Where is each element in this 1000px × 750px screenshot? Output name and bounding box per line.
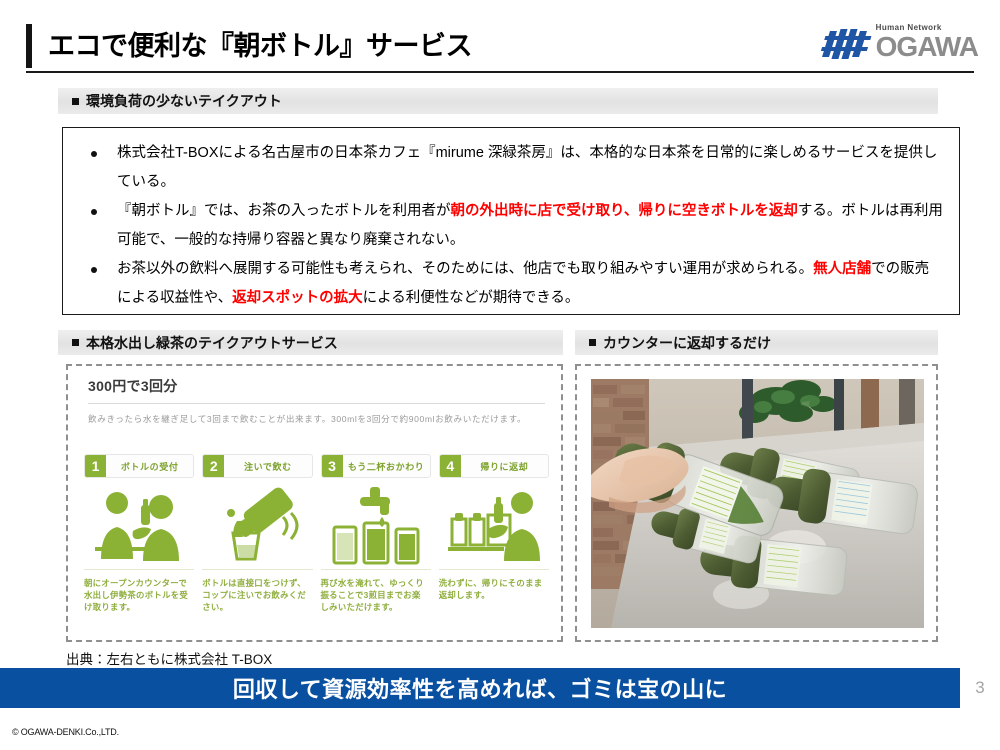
ogawa-logo: Human Network OGAWA — [826, 24, 978, 59]
step-label: ボトルの受付 — [106, 455, 193, 477]
bullet-square-icon — [72, 339, 79, 346]
step-number: 3 — [322, 455, 343, 477]
footer-banner-text: 回収して資源効率性を高めれば、ゴミは宝の山に — [233, 672, 727, 704]
section-header-main-label: 環境負荷の少ないテイクアウト — [86, 91, 282, 111]
step-list: 1ボトルの受付 朝にオープンカウンターで水出し伊勢茶のボトルを受け取ります。2注… — [84, 454, 549, 614]
step-item: 3もう二杯おかわり 再び水を淹れて、ゆっくり振ることで3煎目までお楽しみいただけ… — [321, 454, 431, 614]
step-item: 4帰りに返却 洗わずに、帰りにそのまま返却します。 — [439, 454, 549, 614]
bullet-text: による利便性などが期待できる。 — [363, 290, 580, 306]
bullet-square-icon — [72, 98, 79, 105]
step-label: 注いで飲む — [224, 455, 311, 477]
bullet-item: 『朝ボトル』では、お茶の入ったボトルを利用者が朝の外出時に店で受け取り、帰りに空… — [73, 197, 943, 255]
logo-wordmark: Human Network OGAWA — [876, 24, 978, 59]
bullet-square-icon — [589, 339, 596, 346]
bullet-item: お茶以外の飲料へ展開する可能性も考えられ、そのためには、他店でも取り組みやすい運… — [73, 255, 943, 313]
title-text: エコで便利な『朝ボトル』サービス — [48, 33, 472, 60]
step-chip: 3もう二杯おかわり — [321, 454, 431, 478]
step-divider — [84, 569, 194, 570]
bullet-item: 株式会社T-BOXによる名古屋市の日本茶カフェ『mirume 深緑茶房』は、本格… — [73, 139, 943, 197]
step-chip: 2注いで飲む — [202, 454, 312, 478]
step-item: 1ボトルの受付 朝にオープンカウンターで水出し伊勢茶のボトルを受け取ります。 — [84, 454, 194, 614]
bullet-text: 株式会社T-BOXによる名古屋市の日本茶カフェ『mirume 深緑茶房』は、本格… — [117, 145, 937, 190]
bullet-highlight-text: 無人店舗 — [813, 261, 871, 277]
bullet-highlight-text: 朝の外出時に店で受け取り、帰りに空きボトルを返却 — [451, 203, 798, 219]
footer-banner: 回収して資源効率性を高めれば、ゴミは宝の山に — [0, 668, 960, 708]
step-number: 4 — [440, 455, 461, 477]
step-caption: ボトルは直接口をつけず、コップに注いでお飲みください。 — [202, 577, 312, 614]
step-label: 帰りに返却 — [461, 455, 548, 477]
logo-mark-icon — [821, 29, 874, 59]
pour-into-glass-icon — [202, 487, 312, 565]
source-note: 出典：左右ともに株式会社 T-BOX — [66, 648, 272, 668]
step-caption: 朝にオープンカウンターで水出し伊勢茶のボトルを受け取ります。 — [84, 577, 194, 614]
summary-box: 株式会社T-BOXによる名古屋市の日本茶カフェ『mirume 深緑茶房』は、本格… — [62, 127, 960, 315]
step-item: 2注いで飲む ボトルは直接口をつけず、コップに注いでお飲みください。 — [202, 454, 312, 614]
section-header-left: 本格水出し緑茶のテイクアウトサービス — [58, 330, 563, 355]
bullet-list: 株式会社T-BOXによる名古屋市の日本茶カフェ『mirume 深緑茶房』は、本格… — [73, 139, 943, 313]
infographic-panel: 300円で3回分 飲みきったら水を継ぎ足して3回まで飲むことが出来ます。300m… — [66, 364, 563, 642]
photo-panel — [575, 364, 938, 642]
step-caption: 再び水を淹れて、ゆっくり振ることで3煎目までお楽しみいただけます。 — [321, 577, 431, 614]
section-header-right-label: カウンターに返却するだけ — [603, 333, 771, 353]
step-label: もう二杯おかわり — [343, 455, 430, 477]
infographic-title: 300円で3回分 — [88, 376, 545, 403]
faucet-three-glasses-icon — [321, 487, 431, 565]
infographic-description: 飲みきったら水を継ぎ足して3回まで飲むことが出来ます。300mlを3回分で約90… — [88, 412, 545, 426]
infographic-divider — [88, 403, 545, 404]
return-at-counter-icon — [439, 487, 549, 565]
counter-handoff-icon — [84, 487, 194, 565]
step-number: 1 — [85, 455, 106, 477]
infographic-header: 300円で3回分 飲みきったら水を継ぎ足して3回まで飲むことが出来ます。300m… — [88, 376, 545, 426]
bottle-return-photo — [591, 379, 924, 628]
step-number: 2 — [203, 455, 224, 477]
bullet-text: お茶以外の飲料へ展開する可能性も考えられ、そのためには、他店でも取り組みやすい運… — [117, 261, 813, 277]
step-divider — [202, 569, 312, 570]
step-caption: 洗わずに、帰りにそのまま返却します。 — [439, 577, 549, 601]
title-accent-bar — [26, 24, 32, 68]
title-divider — [26, 71, 974, 73]
bullet-highlight-text: 返却スポットの拡大 — [232, 290, 363, 306]
bullet-text: 『朝ボトル』では、お茶の入ったボトルを利用者が — [117, 203, 451, 219]
logo-name: OGAWA — [876, 34, 978, 59]
section-header-right: カウンターに返却するだけ — [575, 330, 938, 355]
step-chip: 1ボトルの受付 — [84, 454, 194, 478]
section-header-main: 環境負荷の少ないテイクアウト — [58, 88, 938, 114]
section-header-left-label: 本格水出し緑茶のテイクアウトサービス — [86, 333, 338, 353]
bottle-return-photo-art — [591, 379, 924, 628]
copyright-notice: © OGAWA-DENKI.Co.,LTD. — [12, 727, 119, 737]
step-chip: 4帰りに返却 — [439, 454, 549, 478]
page-number: 3 — [966, 678, 994, 698]
step-divider — [439, 569, 549, 570]
step-divider — [321, 569, 431, 570]
